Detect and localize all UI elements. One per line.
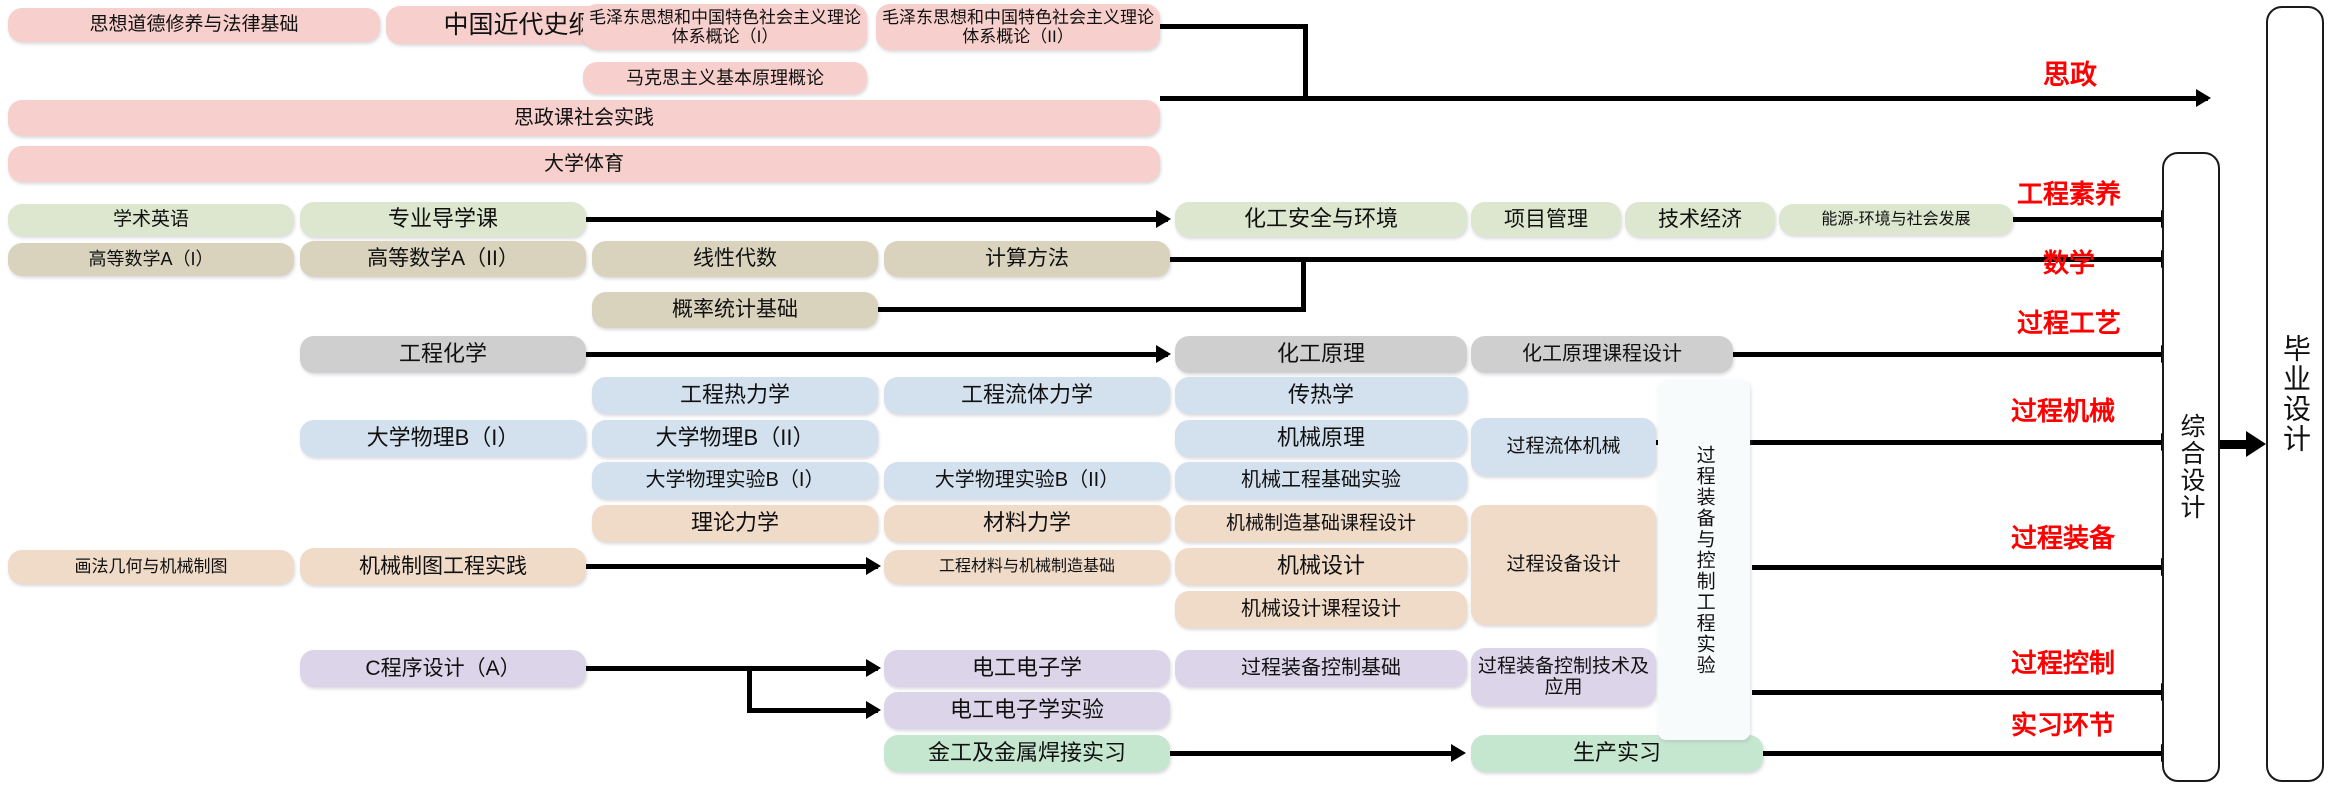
course-box-huagong-yuanli-kcsj[interactable]: 化工原理课程设计 <box>1471 336 1733 373</box>
milestone-box-zonghe-sheji[interactable]: 综合设计 <box>2162 152 2220 782</box>
course-box-guocheng-shebei-sheji[interactable]: 过程设备设计 <box>1471 505 1656 625</box>
arrow-sizheng-to-biye <box>2196 89 2211 107</box>
course-box-guocheng-zhuangbei-kz-jc[interactable]: 过程装备控制基础 <box>1175 650 1467 687</box>
track-label-gongcheng-suyang: 工程素养 <box>2017 174 2121 211</box>
line-gcsy-to-zonghe <box>2013 217 2173 222</box>
course-box-jixie-zhizao-kcsj[interactable]: 机械制造基础课程设计 <box>1175 505 1467 542</box>
line-math-down <box>1301 257 1306 310</box>
course-box-makesi[interactable]: 马克思主义基本原理概论 <box>583 62 867 94</box>
course-box-jixie-zhitu-shijian[interactable]: 机械制图工程实践 <box>300 548 586 585</box>
course-box-gongcheng-huaxue[interactable]: 工程化学 <box>300 336 586 373</box>
course-box-chuanrexue[interactable]: 传热学 <box>1175 377 1467 414</box>
course-box-huafa-jihe[interactable]: 画法几何与机械制图 <box>8 550 294 584</box>
curriculum-flowchart: 思想道德修养与法律基础 中国近代史纲要 毛泽东思想和中国特色社会主义理论体系概论… <box>0 0 2339 790</box>
course-box-jixie-sheji[interactable]: 机械设计 <box>1175 548 1467 585</box>
line-gongyi-main <box>1733 352 2173 357</box>
course-box-xueshu-yingyu[interactable]: 学术英语 <box>8 204 294 236</box>
line-jingong-to-shengchan <box>1170 751 1460 756</box>
course-box-daxue-wuli-2[interactable]: 大学物理B（II） <box>592 420 878 457</box>
course-box-gailv-tongji[interactable]: 概率统计基础 <box>592 292 878 328</box>
course-box-zhuanye-daoxue[interactable]: 专业导学课 <box>300 202 586 237</box>
course-box-diangong-dianzi[interactable]: 电工电子学 <box>884 650 1170 687</box>
course-box-nengyuan[interactable]: 能源-环境与社会发展 <box>1779 204 2013 235</box>
track-label-guocheng-jixie: 过程机械 <box>2011 391 2115 428</box>
line-huaxue-to-yuanli <box>586 352 1168 357</box>
course-box-sizheng-daode[interactable]: 思想道德修养与法律基础 <box>8 8 380 42</box>
track-label-shixi-huanjie: 实习环节 <box>2011 705 2115 742</box>
line-zonghe-to-biye <box>2220 440 2248 449</box>
line-kongzhi-main <box>1752 690 2173 695</box>
line-mao2-down <box>1303 24 1308 100</box>
course-box-daxue-tiyu[interactable]: 大学体育 <box>8 146 1160 182</box>
line-c-to-shiyan <box>747 708 878 713</box>
course-box-cailiao-lixue[interactable]: 材料力学 <box>884 505 1170 542</box>
course-box-c-chengxu[interactable]: C程序设计（A） <box>300 650 586 687</box>
line-daoxue-to-anquan <box>586 217 1168 222</box>
line-c-to-diangong <box>747 666 878 671</box>
line-sizheng-main <box>1160 96 2208 101</box>
course-box-wuli-shiyan-2[interactable]: 大学物理实验B（II） <box>884 462 1170 499</box>
track-label-shuxue: 数学 <box>2043 243 2095 280</box>
arrow-c-to-shiyan <box>866 701 881 719</box>
line-shixi-main <box>1763 751 2173 756</box>
course-box-gongcheng-relixue[interactable]: 工程热力学 <box>592 377 878 414</box>
line-zhuangbei-main <box>1752 565 2173 570</box>
line-c-out <box>586 666 752 671</box>
arrow-daoxue-to-anquan <box>1156 210 1171 228</box>
course-box-xiangmu-guanli[interactable]: 项目管理 <box>1471 202 1621 237</box>
course-box-mao-2[interactable]: 毛泽东思想和中国特色社会主义理论体系概论（II） <box>876 4 1160 50</box>
track-label-sizheng: 思政 <box>2043 53 2097 92</box>
course-box-gongcheng-liuti[interactable]: 工程流体力学 <box>884 377 1170 414</box>
course-box-jingong-shixi[interactable]: 金工及金属焊接实习 <box>884 735 1170 772</box>
track-label-guocheng-kongzhi: 过程控制 <box>2011 643 2115 680</box>
course-box-gaoshu-2[interactable]: 高等数学A（II） <box>300 241 586 277</box>
course-box-guocheng-zhuangbei-kz-js[interactable]: 过程装备控制技术及应用 <box>1471 648 1656 706</box>
line-gailv-out <box>878 307 1306 312</box>
course-box-wuli-shiyan-1[interactable]: 大学物理实验B（I） <box>592 462 878 499</box>
course-box-jishu-jingji[interactable]: 技术经济 <box>1625 202 1775 237</box>
milestone-box-biye-sheji[interactable]: 毕业设计 <box>2266 6 2324 782</box>
course-box-gaoshu-1[interactable]: 高等数学A（I） <box>8 243 294 276</box>
line-jisuan-out <box>1170 257 1306 262</box>
course-box-huagong-yuanli[interactable]: 化工原理 <box>1175 336 1467 373</box>
course-box-jisuan-fangfa[interactable]: 计算方法 <box>884 241 1170 277</box>
course-box-shengchan-shixi[interactable]: 生产实习 <box>1471 735 1763 772</box>
arrow-c-to-diangong <box>866 659 881 677</box>
course-box-mao-1[interactable]: 毛泽东思想和中国特色社会主义理论体系概论（I） <box>583 4 867 50</box>
course-box-xianxing-daishu[interactable]: 线性代数 <box>592 241 878 277</box>
course-box-guocheng-zbkz-shiyan[interactable]: 过程装备与控制工程实验 <box>1658 380 1750 740</box>
course-box-lilun-lixue[interactable]: 理论力学 <box>592 505 878 542</box>
course-box-daxue-wuli-1[interactable]: 大学物理B（I） <box>300 420 586 457</box>
track-label-guocheng-gongyi: 过程工艺 <box>2017 303 2121 340</box>
course-box-diangong-shiyan[interactable]: 电工电子学实验 <box>884 692 1170 729</box>
course-box-jixie-yuanli[interactable]: 机械原理 <box>1175 420 1467 457</box>
arrow-jingong-to-shengchan <box>1451 744 1466 762</box>
arrow-zonghe-to-biye <box>2246 431 2266 457</box>
course-box-gongcheng-cailiao[interactable]: 工程材料与机械制造基础 <box>884 550 1170 584</box>
line-zhitu-to-cailiao <box>586 564 878 569</box>
line-c-down <box>747 666 752 713</box>
course-box-huagong-anquan[interactable]: 化工安全与环境 <box>1175 202 1467 237</box>
course-box-sizheng-shijian[interactable]: 思政课社会实践 <box>8 100 1160 136</box>
arrow-huaxue-to-yuanli <box>1156 345 1171 363</box>
track-label-guocheng-zhuangbei: 过程装备 <box>2011 518 2115 555</box>
line-mao2-out <box>1160 24 1308 29</box>
course-box-jixie-sheji-kcsj[interactable]: 机械设计课程设计 <box>1175 591 1467 628</box>
arrow-zhitu-to-cailiao <box>866 557 881 575</box>
course-box-jixie-jichu-shiyan[interactable]: 机械工程基础实验 <box>1175 462 1467 499</box>
course-box-guocheng-liuti-jixie[interactable]: 过程流体机械 <box>1471 418 1656 476</box>
